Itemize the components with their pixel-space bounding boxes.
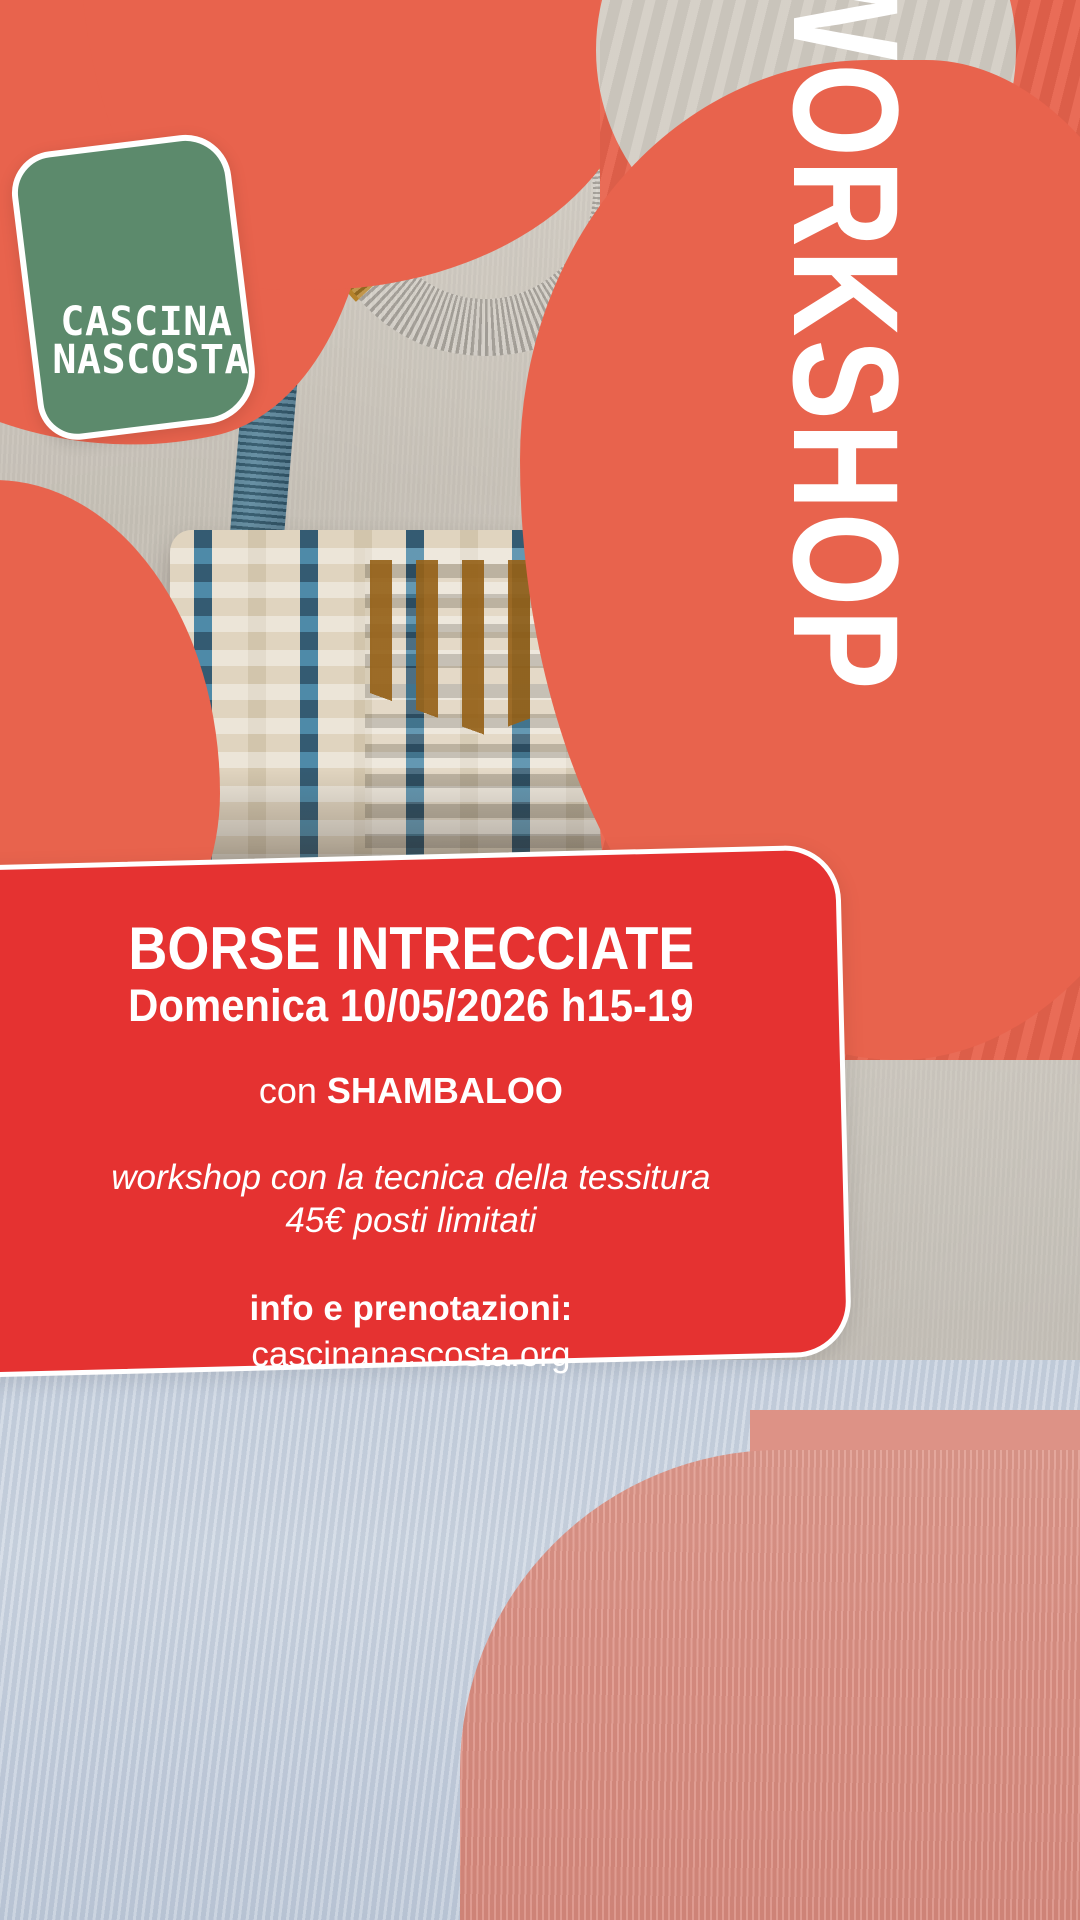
event-title: BORSE INTRECCIATE (20, 918, 802, 979)
cascina-nascosta-logo-badge[interactable]: CASCINA NASCOSTA (7, 130, 261, 445)
event-title-text: BORSE INTRECCIATE (128, 918, 694, 979)
event-description-line-2: 45€ posti limitati (20, 1199, 802, 1242)
booking-info: info e prenotazioni: cascinanascosta.org (20, 1288, 802, 1376)
booking-info-label: info e prenotazioni: (20, 1288, 802, 1330)
workshop-label-text: WORKSHOP (771, 0, 921, 693)
booking-info-url[interactable]: cascinanascosta.org (20, 1334, 802, 1376)
event-description: workshop con la tecnica della tessitura … (20, 1155, 802, 1242)
event-date: Domenica 10/05/2026 h15-19 (20, 981, 802, 1031)
event-date-text: Domenica 10/05/2026 h15-19 (128, 981, 693, 1031)
poster-canvas: CASCINA NASCOSTA WORKSHOP BORSE INTRECCI… (0, 0, 1080, 1920)
event-info-card-content: BORSE INTRECCIATE Domenica 10/05/2026 h1… (20, 918, 802, 1376)
event-host-name: SHAMBALOO (327, 1069, 563, 1110)
event-info-card: BORSE INTRECCIATE Domenica 10/05/2026 h1… (0, 844, 852, 1377)
logo-wordmark: CASCINA NASCOSTA (60, 304, 249, 379)
logo-line-1: CASCINA (60, 304, 249, 342)
event-description-line-1: workshop con la tecnica della tessitura (20, 1155, 802, 1198)
logo-line-2: NASCOSTA (52, 342, 249, 380)
workshop-vertical-label: WORKSHOP (771, 0, 921, 647)
event-host-line: con SHAMBALOO (20, 1069, 802, 1111)
event-host-prefix: con (259, 1069, 327, 1110)
